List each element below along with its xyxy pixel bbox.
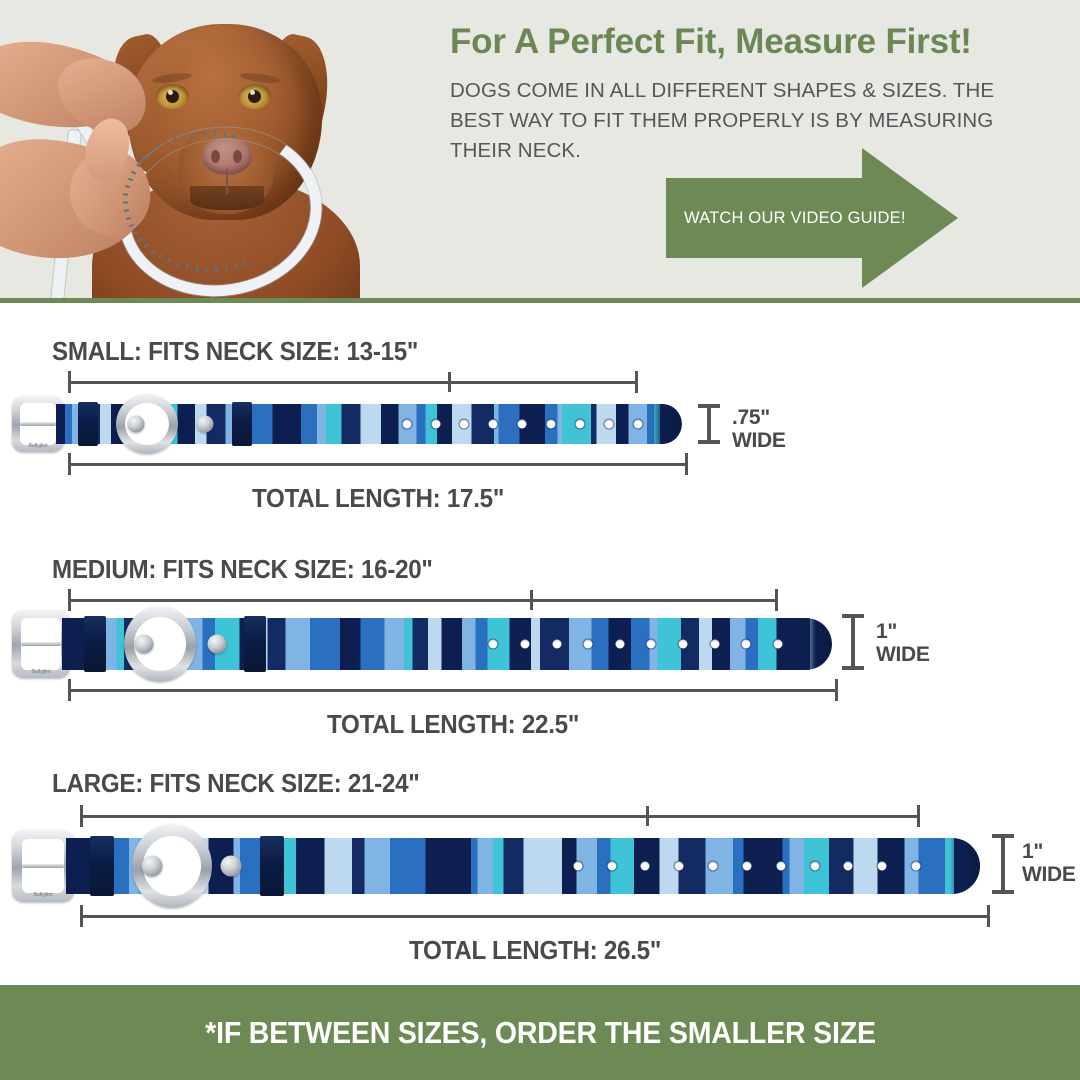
adjustment-hole xyxy=(742,862,751,871)
adjustment-hole xyxy=(634,420,643,429)
adjustment-hole xyxy=(710,640,719,649)
tape-tick xyxy=(213,131,215,136)
adjustment-hole xyxy=(489,420,498,429)
ibeam-flange-top xyxy=(842,614,864,618)
bracket-cap-left xyxy=(68,679,71,701)
adjustment-hole xyxy=(573,862,582,871)
neck-size-bracket-medium xyxy=(68,589,778,611)
bracket-bar xyxy=(80,915,990,918)
footer-note: *IF BETWEEN SIZES, ORDER THE SMALLER SIZ… xyxy=(205,1015,876,1051)
rivet-a-small xyxy=(128,416,145,433)
dog-eye-glint-left xyxy=(168,90,173,95)
keeper-band-a-medium xyxy=(84,616,106,672)
bracket-cap-right xyxy=(835,679,838,701)
width-label-large: 1" WIDE xyxy=(1022,840,1076,886)
adjustment-hole xyxy=(709,862,718,871)
neck-size-bracket-small xyxy=(68,371,638,393)
bracket-mid-tick xyxy=(530,590,533,610)
collar-small: Bullyjiint xyxy=(12,404,682,444)
bracket-cap-left xyxy=(80,905,83,927)
size-title-large: LARGE: FITS NECK SIZE: 21-24" xyxy=(52,768,419,799)
width-value-small: .75" xyxy=(732,406,786,429)
keeper-band-b-large xyxy=(260,836,284,896)
video-guide-arrow-button[interactable]: WATCH OUR VIDEO GUIDE! xyxy=(666,148,958,288)
adjustment-hole xyxy=(679,640,688,649)
adjustment-hole xyxy=(810,862,819,871)
adjustment-hole xyxy=(489,640,498,649)
bracket-bar xyxy=(80,815,920,818)
width-value-large: 1" xyxy=(1022,840,1076,863)
total-length-bracket-large xyxy=(80,905,990,927)
adjustment-hole xyxy=(584,640,593,649)
total-length-bracket-small xyxy=(68,453,688,475)
dog-eye-left xyxy=(156,84,189,109)
width-unit-medium: WIDE xyxy=(876,643,930,666)
bracket-cap-left xyxy=(68,589,71,611)
width-ibeam-small xyxy=(698,404,720,444)
rivet-b-large xyxy=(221,856,242,877)
adjustment-hole xyxy=(912,862,921,871)
collar-medium: Bullyjiint xyxy=(12,618,832,670)
adjustment-hole xyxy=(615,640,624,649)
ibeam-stem xyxy=(851,614,855,670)
width-ibeam-large xyxy=(992,834,1014,894)
ibeam-flange-top xyxy=(992,834,1014,838)
buckle-frame-large: Bullyjiint xyxy=(12,830,74,902)
buckle-brand-mark-large: Bullyjiint xyxy=(12,892,74,898)
adjustment-hole xyxy=(647,640,656,649)
adjustment-hole xyxy=(402,420,411,429)
adjustment-hole xyxy=(878,862,887,871)
bracket-bar xyxy=(68,599,778,602)
bracket-cap-left xyxy=(80,805,83,827)
tape-tick xyxy=(203,131,205,136)
width-label-medium: 1" WIDE xyxy=(876,620,930,666)
width-value-medium: 1" xyxy=(876,620,930,643)
adjustment-hole xyxy=(742,640,751,649)
tape-tick xyxy=(196,266,198,271)
adjustment-hole xyxy=(776,862,785,871)
neck-size-bracket-large xyxy=(80,805,920,827)
d-ring-small xyxy=(116,394,178,454)
bracket-cap-right xyxy=(917,805,920,827)
bracket-cap-left xyxy=(68,453,71,475)
width-unit-small: WIDE xyxy=(732,429,786,452)
bracket-mid-tick xyxy=(646,806,649,826)
ibeam-stem xyxy=(707,404,711,444)
adjustment-hole xyxy=(844,862,853,871)
bracket-cap-right xyxy=(635,371,638,393)
adjustment-hole xyxy=(605,420,614,429)
keeper-band-a-small xyxy=(78,402,98,446)
adjustment-hole xyxy=(774,640,783,649)
adjustment-hole xyxy=(547,420,556,429)
dog-eye-right xyxy=(238,84,271,109)
buckle-prong-bar-medium xyxy=(21,642,61,646)
rivet-b-small xyxy=(197,416,214,433)
header-panel: For A Perfect Fit, Measure First! DOGS C… xyxy=(0,0,1080,298)
adjustment-hole xyxy=(552,640,561,649)
width-unit-large: WIDE xyxy=(1022,863,1076,886)
total-length-bracket-medium xyxy=(68,679,838,701)
buckle-prong-bar-small xyxy=(20,422,56,426)
ibeam-stem xyxy=(1001,834,1005,894)
video-guide-label: WATCH OUR VIDEO GUIDE! xyxy=(684,178,874,258)
adjustment-hole xyxy=(576,420,585,429)
ibeam-flange-top xyxy=(698,404,720,408)
dog-measuring-photo xyxy=(0,0,440,298)
ibeam-flange-bottom xyxy=(992,890,1014,894)
header-title: For A Perfect Fit, Measure First! xyxy=(450,22,1050,62)
total-length-label-large: TOTAL LENGTH: 26.5" xyxy=(112,935,958,966)
rivet-b-medium xyxy=(208,635,227,654)
bracket-bar xyxy=(68,689,838,692)
bracket-bar xyxy=(68,463,688,466)
buckle-prong-bar-large xyxy=(22,864,64,868)
keeper-band-b-small xyxy=(232,402,252,446)
size-section-medium: MEDIUM: FITS NECK SIZE: 16-20" Bullyjiin… xyxy=(0,548,1080,748)
bracket-cap-right xyxy=(685,453,688,475)
bracket-mid-tick xyxy=(448,372,451,392)
bracket-cap-right xyxy=(987,905,990,927)
adjustment-hole xyxy=(518,420,527,429)
adjustment-hole xyxy=(520,640,529,649)
tape-tick xyxy=(223,132,225,137)
size-title-small: SMALL: FITS NECK SIZE: 13-15" xyxy=(52,336,418,367)
bracket-bar xyxy=(68,381,638,384)
rivet-a-large xyxy=(142,856,163,877)
ibeam-flange-bottom xyxy=(698,440,720,444)
keeper-band-a-large xyxy=(90,836,114,896)
adjustment-hole xyxy=(431,420,440,429)
rivet-a-medium xyxy=(135,635,154,654)
keeper-band-b-medium xyxy=(244,616,266,672)
adjustment-hole xyxy=(460,420,469,429)
width-label-small: .75" WIDE xyxy=(732,406,786,452)
width-ibeam-medium xyxy=(842,614,864,670)
adjustment-hole xyxy=(607,862,616,871)
collar-large: Bullyjiint xyxy=(12,838,980,894)
ibeam-flange-bottom xyxy=(842,666,864,670)
size-section-small: SMALL: FITS NECK SIZE: 13-15" Bullyjiint xyxy=(0,330,1080,530)
header-divider xyxy=(0,298,1080,303)
total-length-label-small: TOTAL LENGTH: 17.5" xyxy=(90,483,667,514)
dog-eye-glint-right xyxy=(250,90,255,95)
size-title-medium: MEDIUM: FITS NECK SIZE: 16-20" xyxy=(52,554,433,585)
size-guide-infographic: For A Perfect Fit, Measure First! DOGS C… xyxy=(0,0,1080,1080)
total-length-label-medium: TOTAL LENGTH: 22.5" xyxy=(95,709,811,740)
footer-banner: *IF BETWEEN SIZES, ORDER THE SMALLER SIZ… xyxy=(0,985,1080,1080)
adjustment-hole xyxy=(641,862,650,871)
adjustment-hole xyxy=(675,862,684,871)
tape-tick xyxy=(123,202,128,204)
bracket-cap-right xyxy=(775,589,778,611)
size-section-large: LARGE: FITS NECK SIZE: 21-24" Bullyjiint xyxy=(0,762,1080,972)
bracket-cap-left xyxy=(68,371,71,393)
